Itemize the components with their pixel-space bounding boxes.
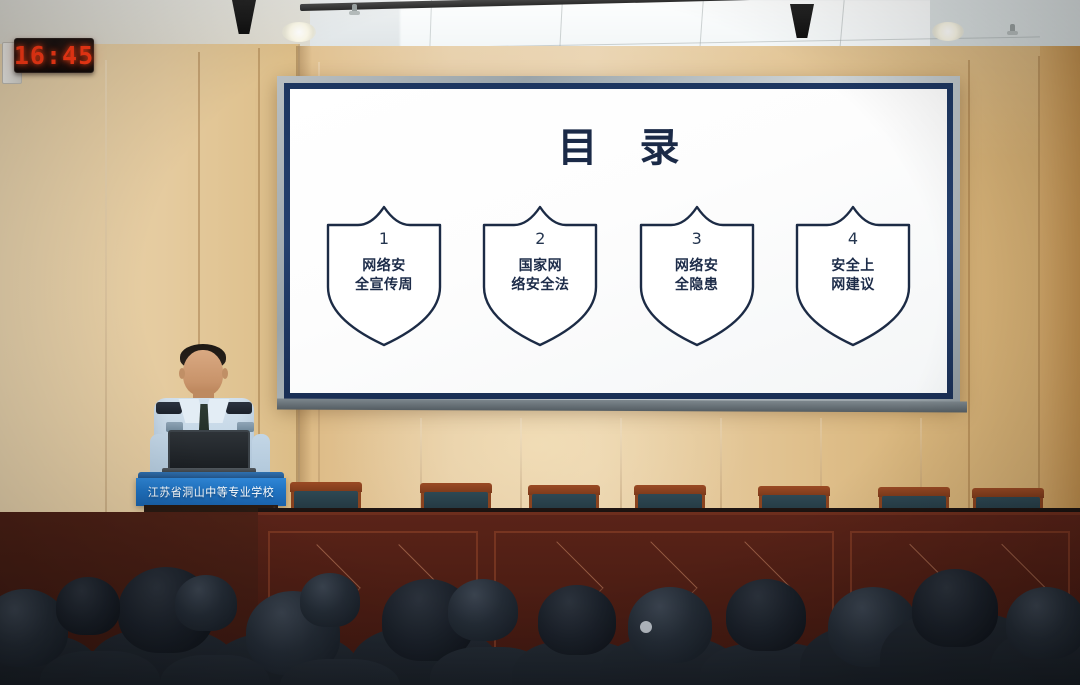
shield-label-line1: 网络安 xyxy=(355,257,413,276)
shield-label-line2: 网建议 xyxy=(831,276,875,295)
shield-label-line2: 全隐患 xyxy=(675,276,719,295)
laptop-screen xyxy=(168,430,250,470)
projection-screen-frame: 目 录 1 网络安 全宣传周 xyxy=(277,76,960,406)
sprinkler-icon xyxy=(352,4,357,13)
shield-label-line2: 络安全法 xyxy=(511,276,569,295)
speaker-epaulette xyxy=(226,402,252,414)
clock-time: 16:45 xyxy=(14,41,94,70)
wall-panel-seam xyxy=(720,418,722,516)
podium-banner: 江苏省洞山中等专业学校 xyxy=(136,478,286,506)
shield-item-1[interactable]: 1 网络安 全宣传周 xyxy=(320,201,448,349)
shield-label: 安全上 网建议 xyxy=(831,257,875,295)
podium-banner-text: 江苏省洞山中等专业学校 xyxy=(148,484,275,501)
downlight-icon xyxy=(282,22,316,42)
presentation-slide: 目 录 1 网络安 全宣传周 xyxy=(290,89,947,393)
digital-wall-clock: 16:45 xyxy=(14,38,94,73)
audience-head xyxy=(448,579,518,641)
speaker-ear xyxy=(179,368,185,379)
shield-number: 4 xyxy=(848,229,858,248)
wall-panel-seam xyxy=(1038,56,1040,521)
shield-label: 网络安 全宣传周 xyxy=(355,257,413,295)
shield-label-line1: 网络安 xyxy=(675,257,719,276)
audience-head xyxy=(726,579,806,651)
screen-inner-border: 目 录 1 网络安 全宣传周 xyxy=(284,83,953,399)
shield-label: 网络安 全隐患 xyxy=(675,257,719,295)
speaker-epaulette xyxy=(156,402,182,414)
shield-number: 2 xyxy=(535,229,545,248)
audience-head xyxy=(912,569,998,647)
wall-panel-seam xyxy=(520,418,522,516)
wall-panel-seam xyxy=(968,60,970,520)
audience-head xyxy=(538,585,616,655)
auditorium-scene: 16:45 目 录 1 网络安 全宣传周 xyxy=(0,0,1080,685)
shield-label-line1: 国家网 xyxy=(511,257,569,276)
sprinkler-icon xyxy=(1010,24,1015,33)
shield-item-3[interactable]: 3 网络安 全隐患 xyxy=(633,201,761,349)
shield-label: 国家网 络安全法 xyxy=(511,257,569,295)
shield-label-line1: 安全上 xyxy=(831,257,875,276)
speaker-ear xyxy=(222,368,228,379)
wall-panel-seam xyxy=(620,418,622,516)
downlight-icon xyxy=(932,22,964,41)
wall-panel-seam xyxy=(105,60,107,560)
audience-head xyxy=(56,577,120,635)
shield-item-2[interactable]: 2 国家网 络安全法 xyxy=(476,201,604,349)
shield-number: 1 xyxy=(379,229,389,248)
audience-head xyxy=(175,575,237,631)
shield-item-4[interactable]: 4 安全上 网建议 xyxy=(789,201,917,349)
slide-title: 目 录 xyxy=(290,115,947,173)
audience-head xyxy=(300,573,360,627)
shield-list: 1 网络安 全宣传周 2 国家网 络安全法 xyxy=(320,201,917,349)
audience-head xyxy=(1006,587,1080,659)
shield-label-line2: 全宣传周 xyxy=(355,276,413,295)
shield-number: 3 xyxy=(692,229,702,248)
audience-silhouettes xyxy=(0,560,1080,685)
right-wall-edge xyxy=(1040,46,1080,566)
